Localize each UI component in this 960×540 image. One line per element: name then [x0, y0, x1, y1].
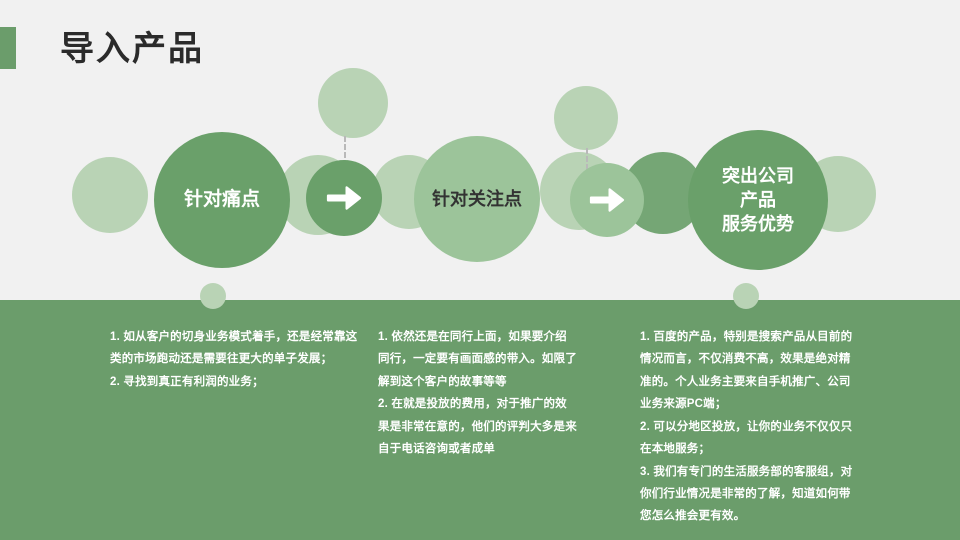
page-title: 导入产品: [60, 28, 204, 70]
decorative-circle-top-2: [554, 86, 618, 150]
step-3-body: 1. 百度的产品，特别是搜索产品从目前的情况而言，不仅消费不高，效果是绝对精准的…: [640, 326, 858, 528]
decorative-circle-small-1: [200, 283, 226, 309]
step-2-body: 1. 依然还是在同行上面，如果要介绍同行，一定要有画面感的带入。如限了解到这个客…: [378, 326, 578, 461]
decorative-circle-top-1: [318, 68, 388, 138]
step-1-label: 针对痛点: [154, 132, 290, 268]
title-accent-bar: [0, 27, 16, 69]
slide-canvas: 导入产品 针对痛点 针对关注点 突出公司 产品 服务优势 1. 如从客户的切身业…: [0, 0, 960, 540]
decorative-circle-small-2: [733, 283, 759, 309]
step-3-label: 突出公司 产品 服务优势: [688, 130, 828, 270]
step-1-body: 1. 如从客户的切身业务模式着手，还是经常靠这类的市场跑动还是需要往更大的单子发…: [110, 326, 360, 393]
arrow-right-icon: [570, 163, 644, 237]
arrow-right-icon: [306, 160, 382, 236]
decorative-circle-left-1: [72, 157, 148, 233]
step-2-label: 针对关注点: [414, 136, 540, 262]
